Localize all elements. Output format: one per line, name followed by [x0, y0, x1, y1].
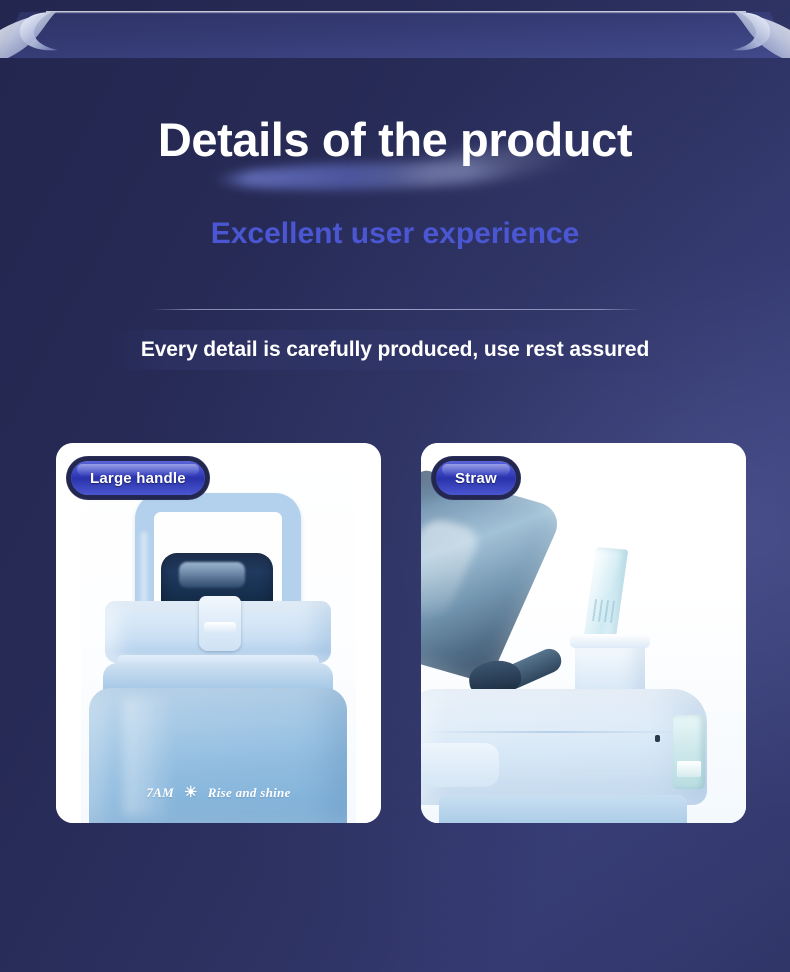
page-title: Details of the product: [0, 108, 790, 172]
straw-illustration: [421, 443, 746, 823]
bottle-slogan-time: 7AM: [146, 785, 174, 801]
product-photo-large-handle: 7AM ☀ Rise and shine: [56, 443, 381, 823]
clip-dot: [655, 735, 660, 742]
feature-card-large-handle[interactable]: 7AM ☀ Rise and shine Large handle: [56, 443, 381, 823]
badge-large-handle[interactable]: Large handle: [71, 461, 205, 495]
page-subtitle: Excellent user experience: [0, 213, 790, 255]
sun-icon: ☀: [184, 786, 198, 801]
bottle-latch: [199, 596, 241, 651]
feature-card-row: 7AM ☀ Rise and shine Large handle: [0, 443, 790, 823]
bottle-slogan: 7AM ☀ Rise and shine: [81, 785, 356, 801]
bottle-top-edge: [439, 795, 687, 823]
bottle-slogan-phrase: Rise and shine: [208, 785, 291, 801]
cap-wing: [421, 743, 499, 787]
feature-card-straw[interactable]: Straw: [421, 443, 746, 823]
side-clip: [673, 715, 705, 789]
product-details-page: Details of the product Excellent user ex…: [0, 0, 790, 972]
title-block: Details of the product: [0, 108, 790, 188]
scroll-ribbon-banner: [0, 0, 790, 58]
bottle-illustration: 7AM ☀ Rise and shine: [81, 443, 356, 823]
badge-large-handle-label: Large handle: [90, 470, 186, 487]
bottle-body: [89, 688, 347, 823]
badge-straw-label: Straw: [455, 470, 497, 487]
product-photo-straw: [421, 443, 746, 823]
header-divider: [154, 309, 638, 310]
badge-straw[interactable]: Straw: [436, 461, 516, 495]
page-tagline: Every detail is carefully produced, use …: [0, 335, 790, 365]
